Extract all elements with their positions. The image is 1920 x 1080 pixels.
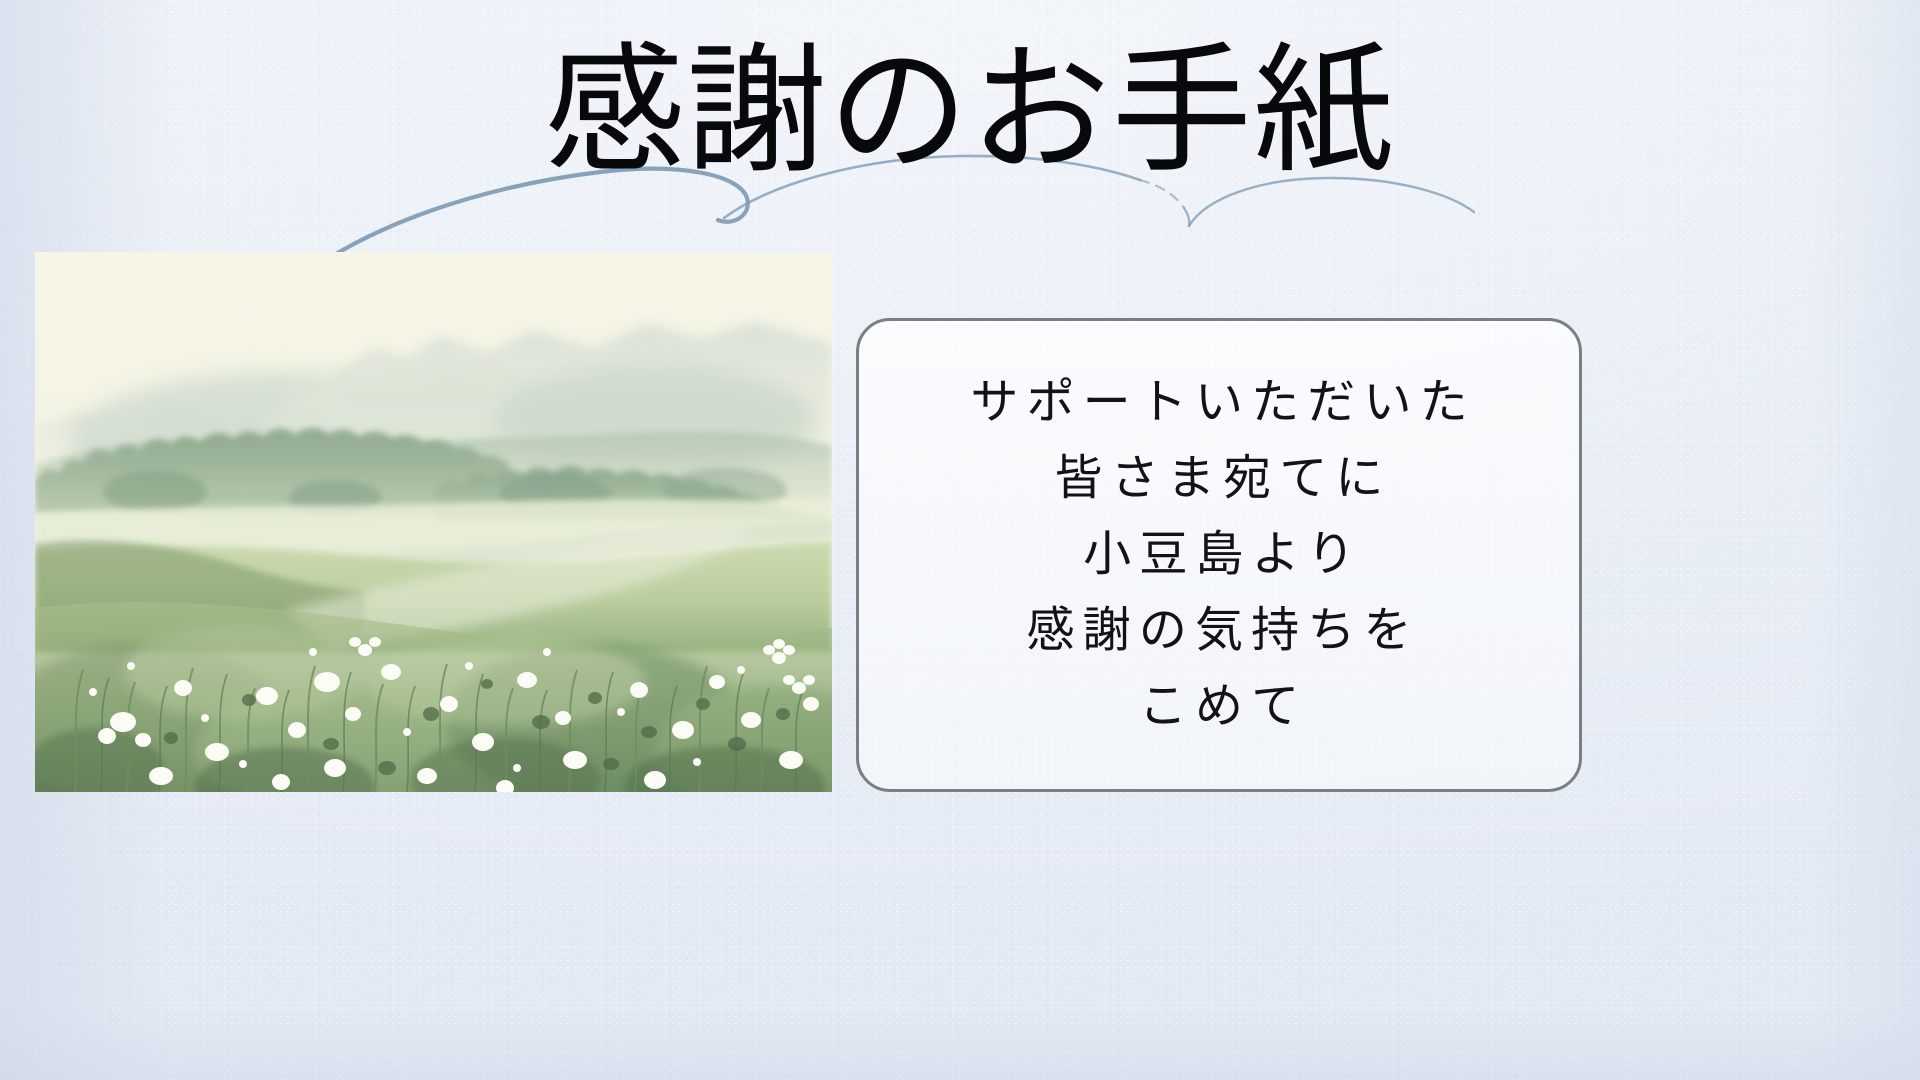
watercolor-meadow-illustration [35,252,832,792]
message-line-3: 小豆島より [1075,517,1363,593]
message-card: サポートいただいた 皆さま宛てに 小豆島より 感謝の気持ちを こめて [856,318,1582,792]
message-line-2: 皆さま宛てに [1046,441,1391,517]
message-line-1: サポートいただいた [962,365,1476,441]
page-title: 感謝のお手紙 [0,28,1920,193]
slide-canvas: 感謝のお手紙 [0,0,1920,1080]
message-line-4: 感謝の気持ちを [1018,593,1419,669]
meadow-scene-graphic [35,252,832,792]
message-line-5: こめて [1131,669,1308,745]
